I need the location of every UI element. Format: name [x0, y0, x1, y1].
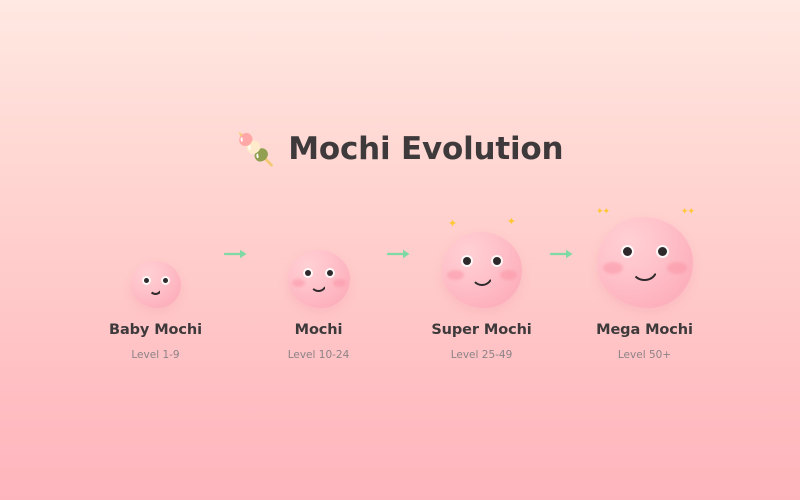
left-cheek-blush — [292, 279, 305, 287]
right-cheek-blush — [500, 270, 517, 280]
stage-name-label: Mega Mochi — [596, 322, 693, 338]
sparkle-icon-right: ✦✦ — [681, 208, 694, 217]
page-title: 🍡 Mochi Evolution — [0, 131, 800, 167]
sparkle-icon-left: ✦ — [448, 218, 457, 229]
mochi-blob-area — [93, 200, 218, 308]
evolution-strip: Baby Mochi Level 1-9 Mochi Level 10-24 — [0, 200, 800, 375]
evolution-stage-mochi[interactable]: Mochi Level 10-24 — [256, 200, 381, 375]
evolution-arrow-icon — [381, 200, 419, 308]
stage-level-label: Level 25-49 — [451, 349, 513, 361]
right-eye-icon — [493, 257, 501, 265]
evolution-arrow-icon — [544, 200, 582, 308]
sparkle-icon-right: ✦ — [507, 216, 516, 227]
stage-level-label: Level 1-9 — [131, 349, 179, 361]
mochi-blob-area: ✦ ✦ — [419, 200, 544, 308]
smile-mouth-icon — [631, 268, 658, 281]
mochi-character-mega — [597, 217, 693, 308]
mochi-character-mochi — [288, 250, 350, 308]
stage-name-label: Baby Mochi — [109, 322, 202, 338]
smile-mouth-icon — [471, 275, 493, 286]
mochi-character-super — [442, 232, 522, 308]
stage-name-label: Super Mochi — [431, 322, 531, 338]
right-cheek-blush — [333, 279, 346, 287]
evolution-arrow-icon — [218, 200, 256, 308]
dango-skewer-icon: 🍡 — [237, 135, 276, 166]
stage-level-label: Level 50+ — [618, 349, 671, 361]
right-cheek-blush — [667, 262, 687, 274]
left-eye-icon — [463, 257, 471, 265]
sparkle-icon-left: ✦✦ — [596, 208, 609, 217]
page-title-text: Mochi Evolution — [288, 131, 563, 167]
stage-name-label: Mochi — [295, 322, 343, 338]
right-eye-icon — [658, 247, 667, 256]
mochi-blob-area: ✦✦ ✦✦ — [582, 200, 707, 308]
smile-mouth-icon — [310, 283, 327, 292]
evolution-stage-mega-mochi[interactable]: ✦✦ ✦✦ Mega Mochi Level 50+ — [582, 200, 707, 375]
evolution-stage-super-mochi[interactable]: ✦ ✦ Super Mochi Level 25-49 — [419, 200, 544, 375]
left-eye-icon — [144, 278, 149, 283]
stage-level-label: Level 10-24 — [288, 349, 350, 361]
mochi-character-baby — [131, 261, 181, 308]
right-eye-icon — [327, 270, 333, 276]
right-eye-icon — [163, 278, 168, 283]
left-eye-icon — [623, 247, 632, 256]
mochi-blob-area — [256, 200, 381, 308]
left-cheek-blush — [603, 262, 623, 274]
smile-mouth-icon — [149, 288, 162, 295]
left-cheek-blush — [447, 270, 464, 280]
evolution-stage-baby-mochi[interactable]: Baby Mochi Level 1-9 — [93, 200, 218, 375]
left-eye-icon — [305, 270, 311, 276]
